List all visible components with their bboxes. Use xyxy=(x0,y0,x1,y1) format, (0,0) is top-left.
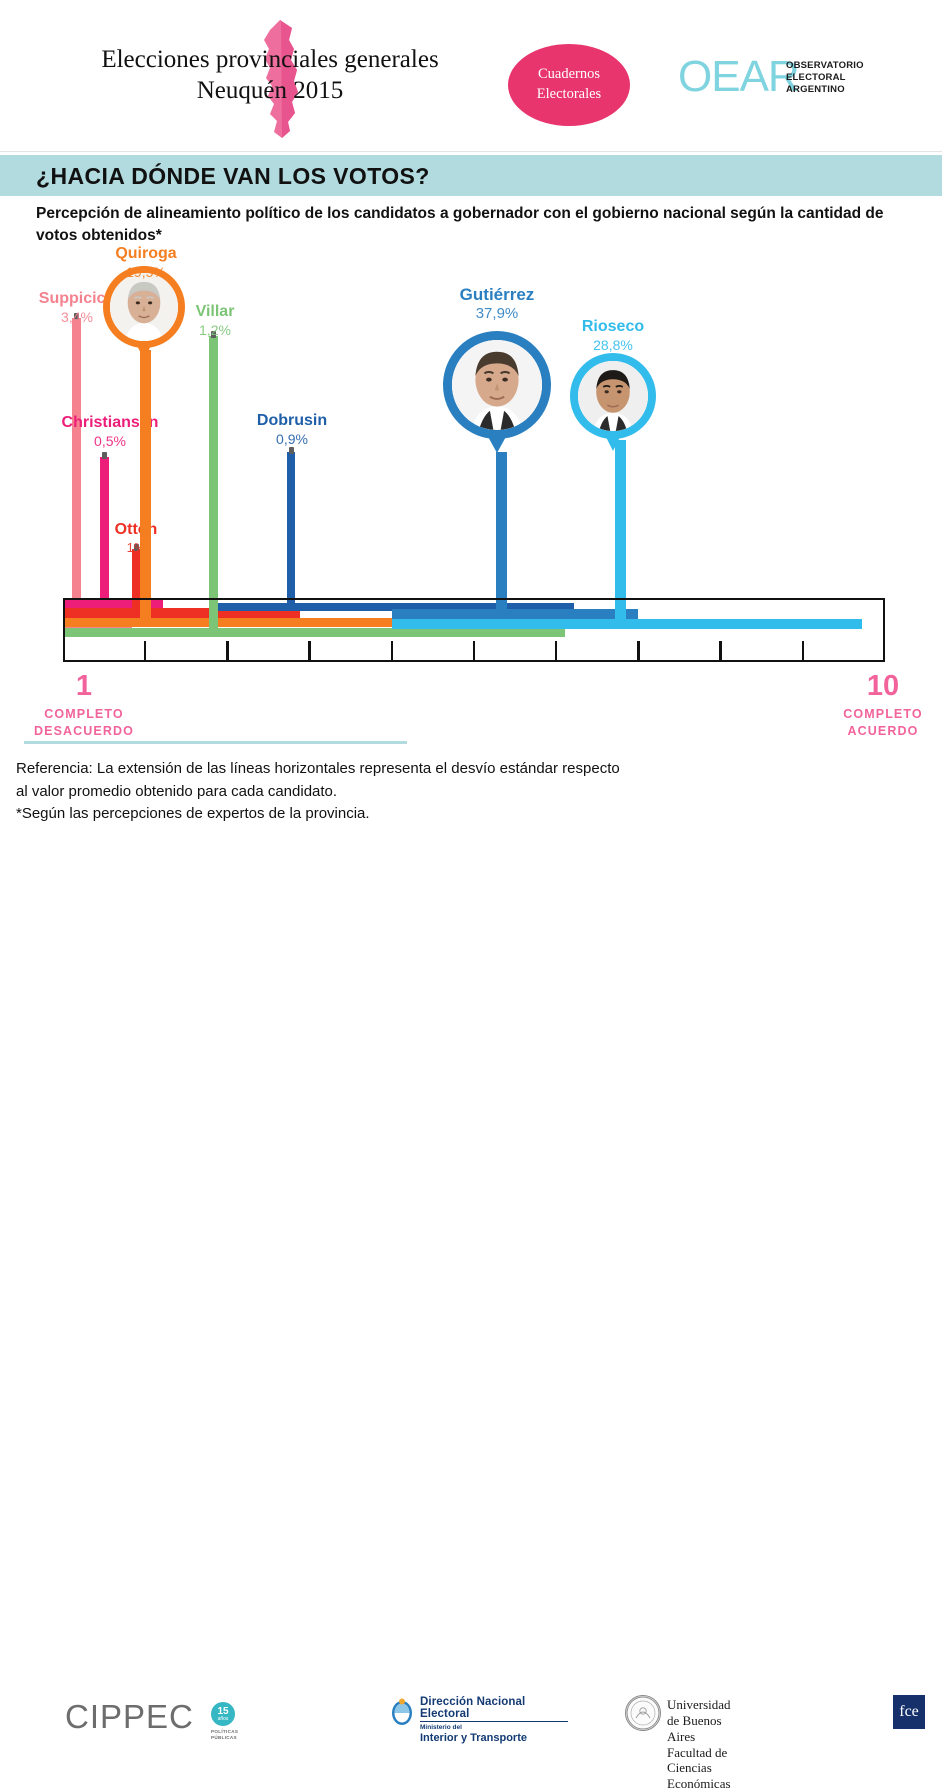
scale-underline xyxy=(24,741,407,744)
banner-title: ¿HACIA DÓNDE VAN LOS VOTOS? xyxy=(36,163,430,190)
oear-sub-line-3: ARGENTINO xyxy=(786,84,864,96)
plot-box-border xyxy=(63,598,885,662)
candidate-percentage: 1,2% xyxy=(105,322,325,339)
oear-wordmark: OEAR xyxy=(678,52,799,102)
cippec-logo: CIPPEC 15 años POLÍTICAS PÚBLICAS xyxy=(65,1698,194,1736)
uba-line-1: Universidad de Buenos Aires xyxy=(667,1697,731,1745)
uba-text-block: Universidad de Buenos Aires Facultad de … xyxy=(667,1697,731,1792)
candidate-name: Quiroga xyxy=(36,245,256,264)
candidate-name: Rioseco xyxy=(503,318,723,337)
page-footer: CIPPEC 15 años POLÍTICAS PÚBLICAS Direcc… xyxy=(0,845,942,900)
stem-tip-dobrusin xyxy=(289,447,294,454)
dne-subtitle: Interior y Transporte xyxy=(420,1732,568,1744)
stem-suppicich xyxy=(72,318,81,633)
candidate-label-rioseco: Rioseco28,8% xyxy=(503,318,723,353)
candidate-label-dobrusin: Dobrusin0,9% xyxy=(182,412,402,447)
scale-label-left: 1 COMPLETO DESACUERDO xyxy=(24,672,144,741)
gutierrez-portrait-image xyxy=(452,340,542,430)
cippec-anniversary-badge: 15 años xyxy=(211,1702,235,1726)
cuadernos-electorales-logo: Cuadernos Electorales xyxy=(508,44,630,126)
dne-text-block: Dirección Nacional Electoral Ministerio … xyxy=(420,1696,568,1744)
reference-line-3: *Según las percepciones de expertos de l… xyxy=(16,803,816,826)
gutierrez-portrait xyxy=(452,340,542,430)
header-divider xyxy=(0,151,942,152)
candidate-name: Gutiérrez xyxy=(387,285,607,305)
dne-ministry: Ministerio del xyxy=(420,1724,568,1732)
candidate-name: Dobrusin xyxy=(182,412,402,431)
fce-logo: fce xyxy=(893,1695,925,1729)
stem-dobrusin xyxy=(287,452,295,611)
page-title: Elecciones provinciales generales Neuqué… xyxy=(60,45,480,106)
candidate-percentage: 0,9% xyxy=(182,431,402,448)
stem-villar xyxy=(209,336,218,637)
cippec-tag-line-2: PÚBLICAS xyxy=(211,1735,238,1741)
cippec-wordmark: CIPPEC xyxy=(65,1698,194,1735)
rioseco-portrait xyxy=(578,361,648,431)
stem-tip-christiansen xyxy=(102,452,107,459)
reference-line-2: al valor promedio obtenido para cada can… xyxy=(16,781,816,804)
oear-sub-line-1: OBSERVATORIO xyxy=(786,60,864,72)
cippec-tagline: POLÍTICAS PÚBLICAS xyxy=(211,1729,238,1740)
cippec-badge-number: 15 xyxy=(217,1707,228,1717)
uba-line-2: Facultad de Ciencias Económicas xyxy=(667,1745,731,1792)
scale-right-number: 10 xyxy=(824,672,942,701)
scale-right-line-2: ACUERDO xyxy=(824,723,942,740)
uba-seal-icon xyxy=(625,1695,661,1731)
reference-line-1: Referencia: La extensión de las líneas h… xyxy=(16,758,816,781)
candidate-name: Villar xyxy=(105,303,325,322)
cuadernos-line-2: Electorales xyxy=(537,85,601,105)
scale-right-text: COMPLETO ACUERDO xyxy=(824,706,942,741)
fce-label: fce xyxy=(899,1703,919,1721)
scale-left-line-2: DESACUERDO xyxy=(24,723,144,740)
fce-crest xyxy=(893,1695,925,1703)
oear-subtitle: OBSERVATORIO ELECTORAL ARGENTINO xyxy=(786,60,864,96)
scale-left-number: 1 xyxy=(24,672,144,701)
oear-sub-line-2: ELECTORAL xyxy=(786,72,864,84)
cuadernos-line-1: Cuadernos xyxy=(538,65,600,85)
stem-quiroga xyxy=(140,350,151,627)
title-line-2: Neuquén 2015 xyxy=(60,76,480,107)
candidate-label-villar: Villar1,2% xyxy=(105,303,325,338)
scale-left-text: COMPLETO DESACUERDO xyxy=(24,706,144,741)
cippec-badge-anos: años xyxy=(218,1717,229,1722)
oear-logo: OEAR OBSERVATORIO ELECTORAL ARGENTINO xyxy=(678,52,908,106)
dne-title: Dirección Nacional Electoral xyxy=(420,1696,568,1720)
scale-left-line-1: COMPLETO xyxy=(24,706,144,723)
cippec-tag-line-1: POLÍTICAS xyxy=(211,1729,238,1735)
page-header: Elecciones provinciales generales Neuqué… xyxy=(0,0,942,152)
reference-note: Referencia: La extensión de las líneas h… xyxy=(16,758,816,826)
candidate-percentage: 19,5% xyxy=(36,264,256,281)
photo-pin-rioseco xyxy=(570,353,656,439)
chart-subtitle: Percepción de alineamiento político de l… xyxy=(36,203,896,248)
candidate-label-quiroga: Quiroga19,5% xyxy=(36,245,256,280)
rioseco-portrait-image xyxy=(578,361,648,431)
title-line-1: Elecciones provinciales generales xyxy=(60,45,480,76)
scale-right-line-1: COMPLETO xyxy=(824,706,942,723)
dne-divider xyxy=(420,1721,568,1722)
argentina-shield-icon xyxy=(390,1698,414,1726)
scale-label-right: 10 COMPLETO ACUERDO xyxy=(824,672,942,741)
candidate-percentage: 28,8% xyxy=(503,337,723,354)
stem-gutirrez xyxy=(496,452,507,619)
